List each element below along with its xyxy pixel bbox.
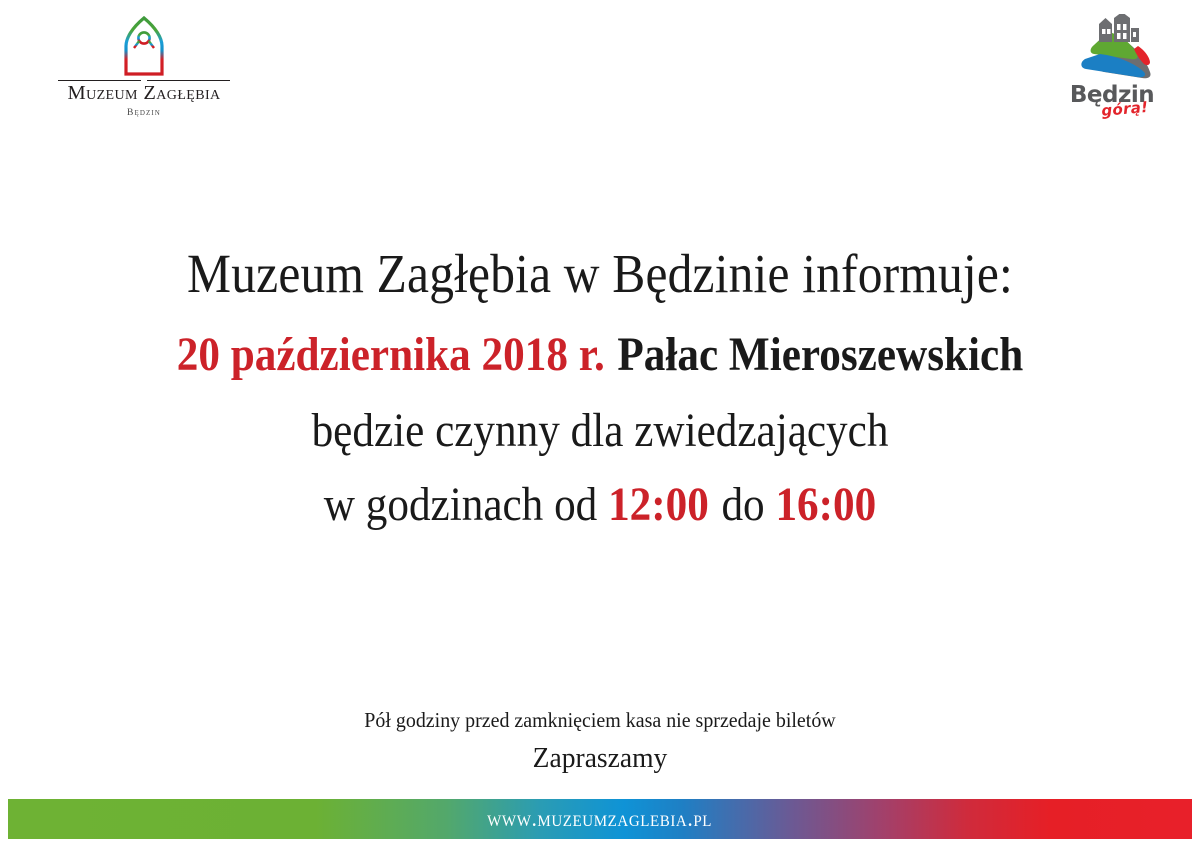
announcement-line-3: będzie czynny dla zwiedzających (60, 407, 1140, 455)
website-url[interactable]: www.muzeumzaglebia.pl (488, 806, 713, 832)
closing-time: 16:00 (775, 478, 876, 531)
rule-right (147, 80, 230, 81)
ticket-office-notice: Pół godziny przed zamknięciem kasa nie s… (30, 708, 1170, 733)
museum-wordmark: Muzeum Zagłębia (44, 83, 244, 105)
museum-logo-rules (58, 80, 230, 81)
footer-gradient-bar: www.muzeumzaglebia.pl (8, 799, 1192, 839)
hours-prefix: w godzinach od (324, 478, 598, 531)
opening-time: 12:00 (608, 478, 709, 531)
announcement-date: 20 października 2018 r. (177, 328, 605, 381)
announcement-block: Muzeum Zagłębia w Będzinie informuje: 20… (0, 246, 1200, 529)
footer-note: Pół godziny przed zamknięciem kasa nie s… (0, 708, 1200, 776)
poster-canvas: Muzeum Zagłębia Będzin (0, 0, 1200, 847)
announcement-venue: Pałac Mieroszewskich (617, 328, 1023, 381)
hours-middle: do (721, 478, 764, 531)
museum-wordmark-city: Będzin (44, 108, 244, 118)
museum-logo: Muzeum Zagłębia Będzin (44, 16, 244, 128)
rule-left (58, 80, 141, 81)
bedzin-castle-hill-icon (1064, 14, 1160, 86)
announcement-line-4: w godzinach od 12:00do 16:00 (60, 481, 1140, 529)
announcement-line-1: Muzeum Zagłębia w Będzinie informuje: (60, 246, 1140, 301)
gothic-window-icon (118, 16, 170, 78)
city-logo: Będzin górą! (1052, 14, 1172, 132)
announcement-line-2: 20 października 2018 r.Pałac Mieroszewsk… (60, 331, 1140, 379)
welcome-text: Zapraszamy (30, 741, 1170, 776)
